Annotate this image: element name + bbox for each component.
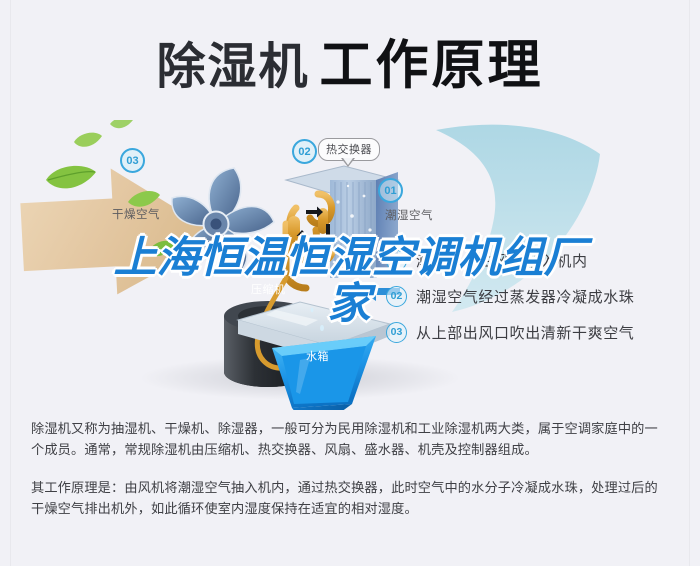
label-water-tank: 水箱 [306, 348, 329, 364]
label-compressor: 压缩机 [251, 281, 286, 297]
page-header: 除湿机 工作原理 [0, 0, 700, 122]
legend-badge-02: 02 [386, 286, 407, 307]
paragraph-1: 除湿机又称为抽湿机、干燥机、除湿器，一般可分为民用除湿机和工业除湿机两大类，属于… [31, 418, 671, 460]
legend-item-03: 03 从上部出风口吹出清新干爽空气 [386, 314, 686, 350]
diagram-badge-03: 03 [120, 148, 145, 173]
legend-item-01: 01 潮湿空气由风机抽入机内 [386, 242, 686, 278]
title-part-two: 工作原理 [320, 23, 544, 99]
label-dry-air: 干燥空气 [112, 206, 160, 222]
legend-badge-03: 03 [386, 322, 407, 343]
title-part-one: 除湿机 [156, 27, 309, 98]
legend-badge-01: 01 [386, 250, 407, 271]
heat-exchanger-callout-tail [341, 158, 355, 167]
infographic-page: 除湿机 工作原理 [0, 0, 700, 566]
legend-text-03: 从上部出风口吹出清新干爽空气 [416, 322, 634, 343]
page-title: 除湿机 工作原理 [156, 23, 543, 99]
legend-list: 01 潮湿空气由风机抽入机内 02 潮湿空气经过蒸发器冷凝成水珠 03 从上部出… [386, 242, 686, 350]
body-text-block: 除湿机又称为抽湿机、干燥机、除湿器，一般可分为民用除湿机和工业除湿机两大类，属于… [31, 418, 671, 519]
legend-text-01: 潮湿空气由风机抽入机内 [416, 250, 588, 271]
diagram-badge-02: 02 [292, 139, 317, 164]
legend-text-02: 潮湿空气经过蒸发器冷凝成水珠 [416, 286, 634, 307]
diagram-badge-01: 01 [378, 178, 403, 203]
label-humid-air: 潮湿空气 [385, 207, 433, 223]
legend-item-02: 02 潮湿空气经过蒸发器冷凝成水珠 [386, 278, 686, 314]
fan-artwork [172, 168, 274, 270]
paragraph-2: 其工作原理是：由风机将潮湿空气抽入机内，通过热交换器，此时空气中的水分子冷凝成水… [31, 477, 671, 519]
